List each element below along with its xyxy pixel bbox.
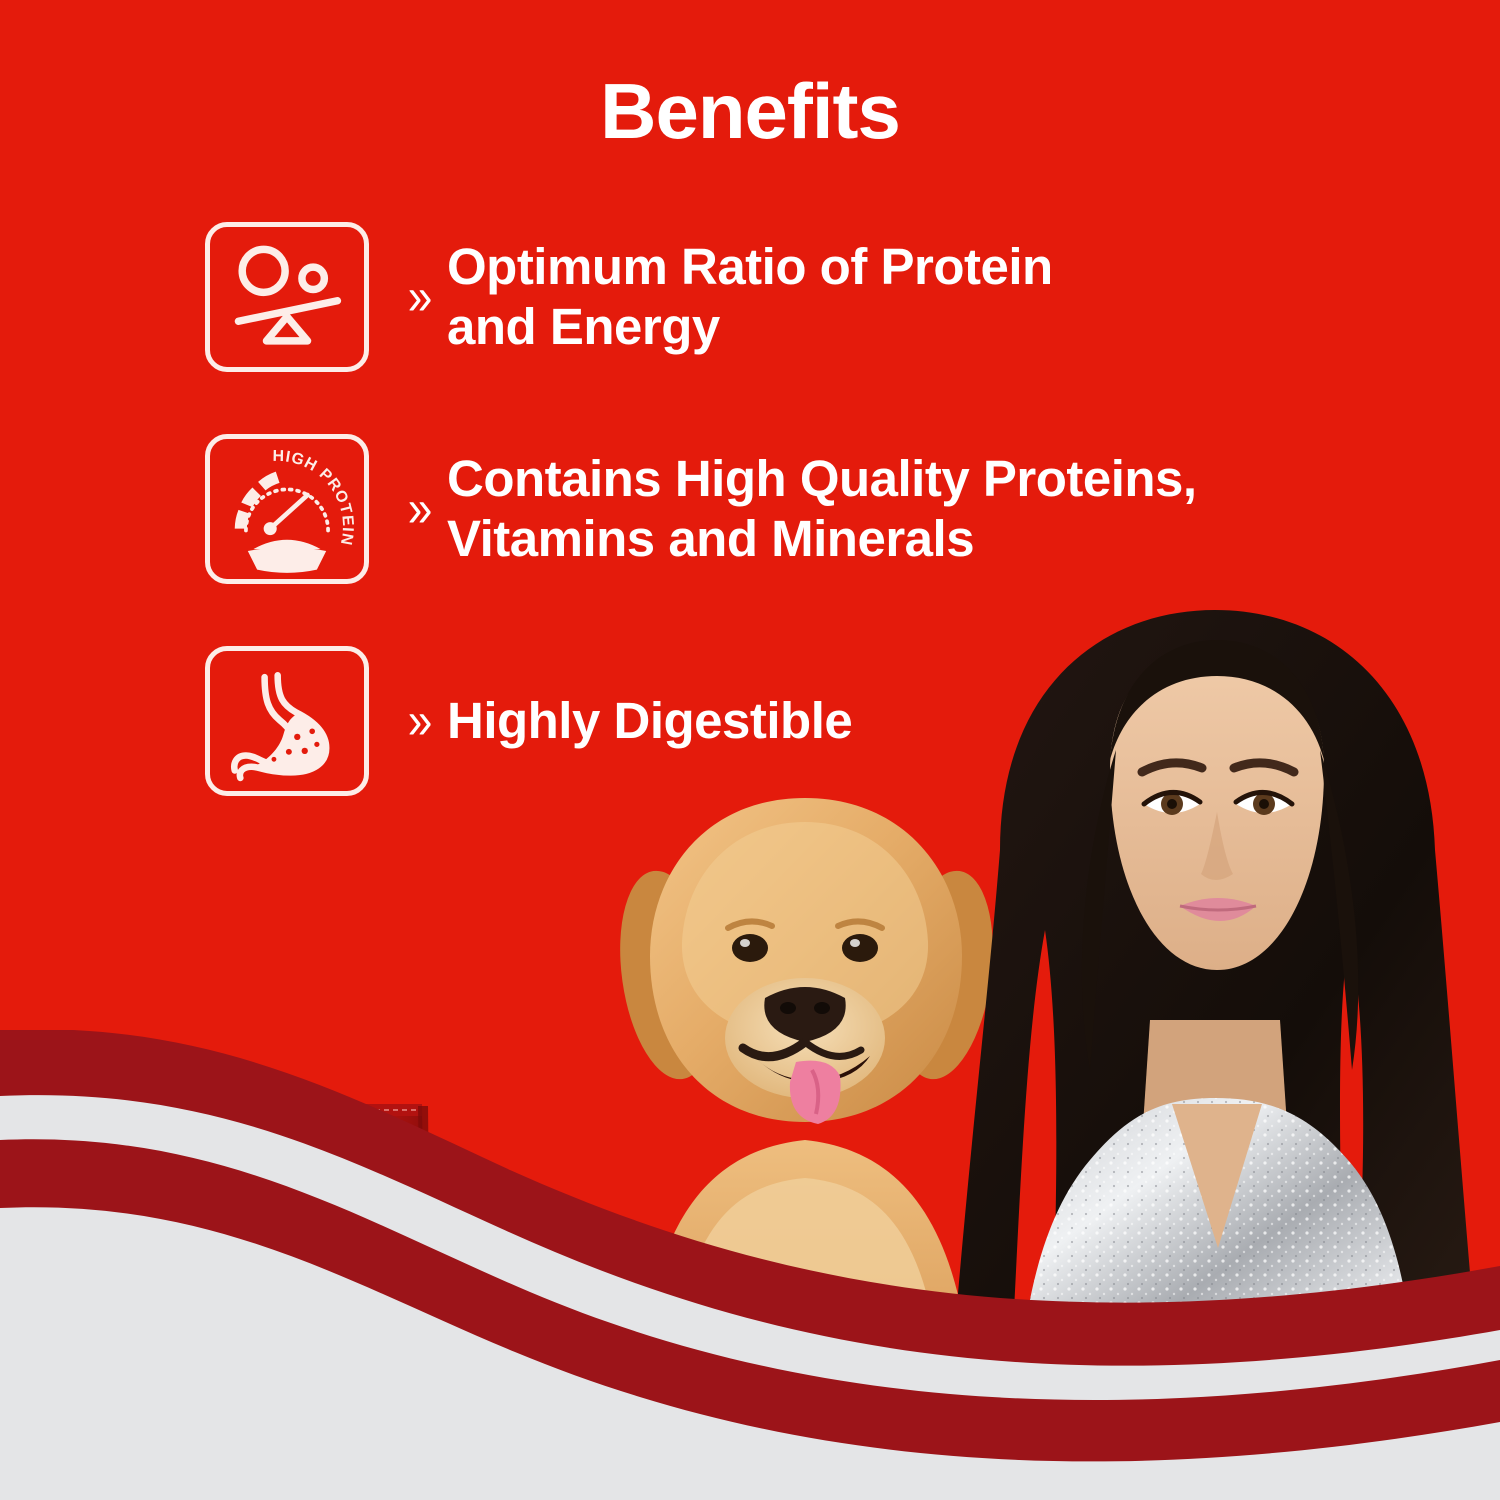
benefit-label: Contains High Quality Proteins, Vitamins… xyxy=(447,449,1197,569)
benefit-item-highly-digestible: » Highly Digestible xyxy=(205,646,852,796)
high-protein-gauge-icon: HIGH PROTEIN xyxy=(205,434,369,584)
svg-text:HIGH PROTEIN: HIGH PROTEIN xyxy=(272,448,356,547)
gauge-label: HIGH PROTEIN xyxy=(272,448,356,547)
chevron-marker-icon: » xyxy=(397,271,443,323)
pack-life-stage: FOR ADULT xyxy=(188,1392,288,1412)
pack-arrows-icon: »» xyxy=(312,1345,325,1362)
pack-intro-label: INTRODUCING »» xyxy=(188,1345,325,1362)
benefit-label: Highly Digestible xyxy=(447,691,852,751)
stomach-digestion-icon xyxy=(205,646,369,796)
benefit-item-high-quality-proteins: HIGH PROTEIN » Contains High Quality Pro… xyxy=(205,434,1197,584)
benefit-label: Optimum Ratio of Protein and Energy xyxy=(447,237,1053,357)
benefit-item-optimum-ratio: » Optimum Ratio of Protein and Energy xyxy=(205,222,1053,372)
pack-tagline: Well fed, Well loved. xyxy=(204,1158,289,1168)
chevron-marker-icon: » xyxy=(397,483,443,535)
food-bowl-photo xyxy=(335,1355,520,1500)
brand-ambassador-photo xyxy=(940,600,1500,1390)
advertisement-banner: drools® Well fed, Well loved. INTRODUCIN… xyxy=(0,0,1500,1500)
chevron-marker-icon: » xyxy=(397,695,443,747)
pack-bullet-list: Optimum ratio of protein and energy. Con… xyxy=(190,1420,332,1448)
page-title: Benefits xyxy=(0,72,1500,150)
pack-brand-logo: drools® xyxy=(194,1120,299,1160)
pack-net-weight: Net wt. 20 Kg xyxy=(190,1452,236,1459)
balance-scale-icon xyxy=(205,222,369,372)
registered-mark: ® xyxy=(292,1127,299,1141)
